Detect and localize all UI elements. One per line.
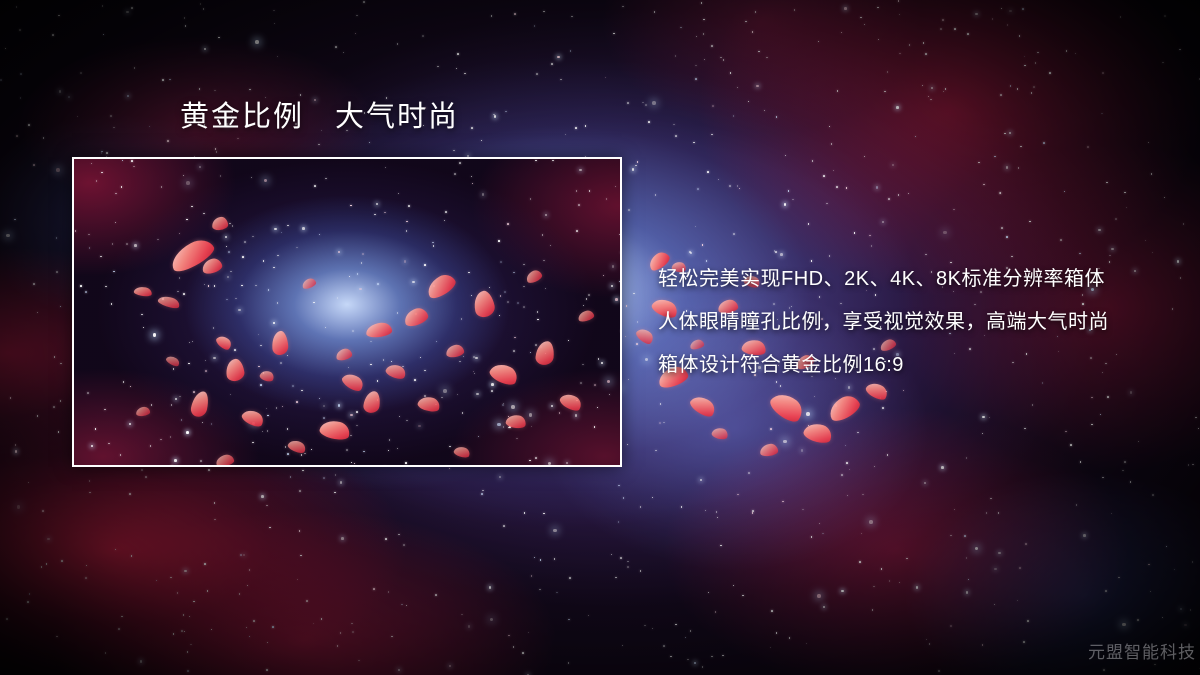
body-line-1: 轻松完美实现FHD、2K、4K、8K标准分辨率箱体 [658,258,1128,301]
panel-content [74,159,620,465]
body-line-3: 箱体设计符合黄金比例16:9 [658,344,1128,387]
framed-nebula-image[interactable] [72,157,622,467]
panel-starfield [74,159,620,465]
page-title: 黄金比例 大气时尚 [180,100,459,135]
slide-root: 黄金比例 大气时尚 轻松完美实现FHD、2K、4K、8K标准分辨率箱体 人体眼睛… [0,0,1200,675]
body-text-block: 轻松完美实现FHD、2K、4K、8K标准分辨率箱体 人体眼睛瞳孔比例，享受视觉效… [658,258,1128,387]
body-line-2: 人体眼睛瞳孔比例，享受视觉效果，高端大气时尚 [658,301,1128,344]
watermark-logo-text: 元盟智能科技 [1088,638,1196,663]
